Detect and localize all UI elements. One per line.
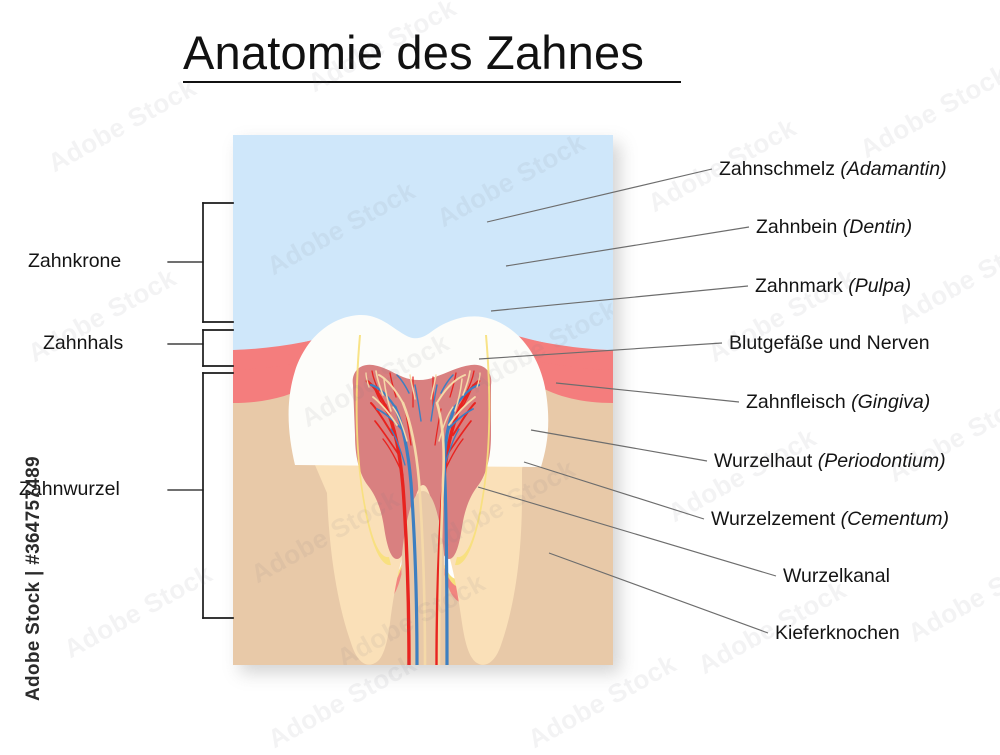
label-text-main: Zahnschmelz [719, 158, 835, 180]
label-text-main: Kieferknochen [775, 622, 900, 644]
label-text-main: Zahnmark [755, 275, 843, 297]
watermark-tile: Adobe Stock [59, 558, 218, 665]
label-zahnkrone: Zahnkrone [28, 252, 121, 272]
watermark-tile: Adobe Stock [903, 542, 1000, 649]
label-zahnschmelz: Zahnschmelz (Adamantin) [719, 160, 947, 180]
label-text-main: Wurzelzement [711, 508, 835, 530]
label-text-latin: (Cementum) [835, 508, 949, 530]
title-block: Anatomie des Zahnes [183, 28, 683, 83]
label-text-main: Blutgefäße und Nerven [729, 332, 930, 354]
label-zahnfleisch: Zahnfleisch (Gingiva) [746, 393, 930, 413]
label-wurzelzement: Wurzelzement (Cementum) [711, 510, 949, 530]
watermark-tile: Adobe Stock [43, 72, 202, 179]
label-blutgefaesse: Blutgefäße und Nerven [729, 334, 930, 354]
label-text-main: Zahnfleisch [746, 391, 846, 413]
watermark-id-text: Adobe Stock | #364757489 [23, 441, 45, 701]
label-zahnmark: Zahnmark (Pulpa) [755, 277, 911, 297]
label-text-main: Wurzelhaut [714, 450, 812, 472]
label-text-latin: (Dentin) [837, 216, 912, 238]
watermark-tile: Adobe Stock [855, 58, 1000, 165]
label-zahnbein: Zahnbein (Dentin) [756, 218, 912, 238]
label-zahnhals: Zahnhals [43, 334, 123, 354]
label-wurzelkanal: Wurzelkanal [783, 567, 890, 587]
label-wurzelhaut: Wurzelhaut (Periodontium) [714, 452, 946, 472]
label-text-main: Zahnbein [756, 216, 837, 238]
label-text-latin: (Pulpa) [843, 275, 911, 297]
label-text-main: Wurzelkanal [783, 565, 890, 587]
label-text-latin: (Gingiva) [846, 391, 931, 413]
tooth-anatomy-illustration: Adobe Stock Adobe Stock Adobe Stock Adob… [233, 135, 613, 665]
label-text-latin: (Adamantin) [835, 158, 947, 180]
title-underline [183, 81, 681, 83]
label-text-latin: (Periodontium) [812, 450, 945, 472]
label-kieferknochen: Kieferknochen [775, 624, 900, 644]
page-title: Anatomie des Zahnes [183, 28, 683, 77]
illustration-stage: Anatomie des Zahnes [0, 0, 1000, 714]
